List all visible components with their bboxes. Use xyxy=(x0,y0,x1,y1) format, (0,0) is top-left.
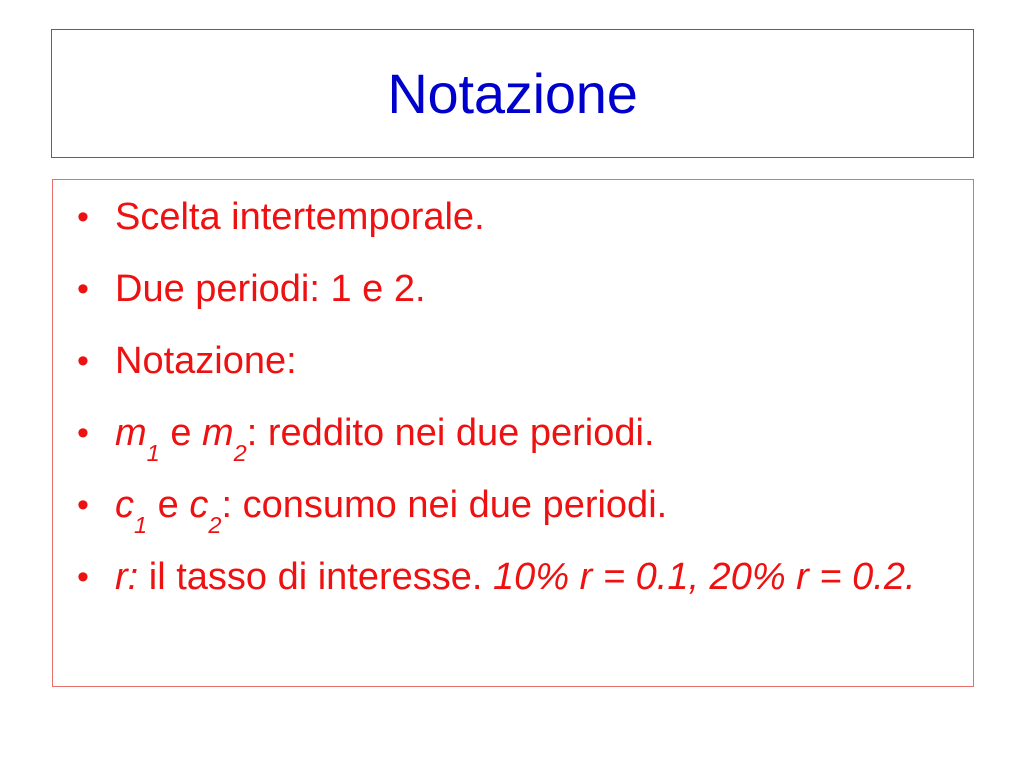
italic-run: 10% r = 0.1, 20% r = 0.2. xyxy=(493,556,915,598)
list-item-label: m1 e m2: reddito nei due periodi. xyxy=(115,410,963,456)
bullet-point-icon: • xyxy=(77,194,97,240)
bullet-point-icon: • xyxy=(77,482,97,528)
italic-run: r: xyxy=(115,556,138,598)
title-placeholder[interactable]: Notazione xyxy=(51,29,974,158)
text-run: il tasso di interesse. xyxy=(138,556,493,598)
text-run: e xyxy=(147,484,189,526)
text-run: : reddito nei due periodi. xyxy=(247,412,655,454)
text-run: Scelta intertemporale. xyxy=(115,196,485,238)
bullet-point-icon: • xyxy=(77,338,97,384)
list-item-label: Scelta intertemporale. xyxy=(115,194,963,240)
bullet-list: •Scelta intertemporale.•Due periodi: 1 e… xyxy=(53,194,963,600)
subscript-run: 1 xyxy=(134,512,147,538)
list-item-label: c1 e c2: consumo nei due periodi. xyxy=(115,482,963,528)
italic-run: m xyxy=(115,412,147,454)
list-item-label: Due periodi: 1 e 2. xyxy=(115,266,963,312)
subscript-run: 1 xyxy=(147,440,160,466)
list-item[interactable]: •Due periodi: 1 e 2. xyxy=(67,266,963,312)
list-item-label: r: il tasso di interesse. 10% r = 0.1, 2… xyxy=(115,554,963,600)
text-run: Notazione: xyxy=(115,340,297,382)
body-placeholder[interactable]: •Scelta intertemporale.•Due periodi: 1 e… xyxy=(52,179,974,687)
list-item[interactable]: •m1 e m2: reddito nei due periodi. xyxy=(67,410,963,456)
subscript-run: 2 xyxy=(208,512,221,538)
slide-canvas: Notazione •Scelta intertemporale.•Due pe… xyxy=(0,0,1024,768)
bullet-point-icon: • xyxy=(77,266,97,312)
list-item[interactable]: •c1 e c2: consumo nei due periodi. xyxy=(67,482,963,528)
list-item[interactable]: •Scelta intertemporale. xyxy=(67,194,963,240)
italic-run: c xyxy=(189,484,208,526)
subscript-run: 2 xyxy=(234,440,247,466)
text-run: Due periodi: 1 e 2. xyxy=(115,268,426,310)
list-item[interactable]: •r: il tasso di interesse. 10% r = 0.1, … xyxy=(67,554,963,600)
page-title: Notazione xyxy=(387,63,637,125)
bullet-point-icon: • xyxy=(77,410,97,456)
italic-run: c xyxy=(115,484,134,526)
list-item[interactable]: •Notazione: xyxy=(67,338,963,384)
list-item-label: Notazione: xyxy=(115,338,963,384)
text-run: : consumo nei due periodi. xyxy=(221,484,667,526)
bullet-point-icon: • xyxy=(77,554,97,600)
italic-run: m xyxy=(202,412,234,454)
text-run: e xyxy=(160,412,202,454)
